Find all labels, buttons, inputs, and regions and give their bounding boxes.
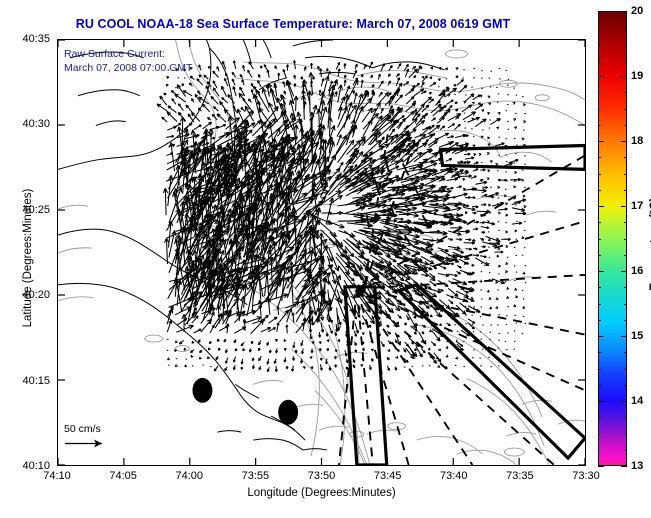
current-vector	[327, 348, 329, 351]
colorbar-minor-tick	[598, 352, 601, 353]
current-vector	[362, 332, 364, 335]
current-vector	[261, 66, 263, 69]
vector-scale-key: 50 cm/s	[64, 423, 110, 453]
current-vector	[199, 339, 201, 342]
current-vector	[338, 231, 355, 237]
current-vector	[297, 112, 304, 139]
current-vector	[336, 62, 339, 69]
current-vector	[495, 163, 497, 165]
current-vector	[513, 304, 516, 306]
current-vector	[164, 93, 167, 95]
current-vector	[484, 222, 495, 225]
current-vector	[512, 208, 525, 212]
colorbar-minor-tick	[598, 255, 601, 256]
current-vector	[431, 118, 435, 121]
current-vector	[372, 315, 374, 319]
current-vector	[284, 339, 286, 342]
current-vector	[209, 341, 211, 343]
current-vector	[438, 79, 441, 81]
current-vector	[199, 357, 201, 359]
current-vector	[523, 121, 525, 123]
current-vector	[456, 68, 459, 70]
current-vector	[259, 340, 261, 345]
current-vector	[294, 60, 296, 69]
current-vector	[335, 92, 337, 97]
current-vector	[242, 80, 244, 86]
scale-key-label: 50 cm/s	[64, 423, 101, 435]
current-vector	[175, 123, 181, 127]
current-vector	[194, 125, 201, 130]
current-vector	[233, 61, 235, 69]
current-vector	[505, 203, 508, 205]
current-vector	[232, 72, 236, 77]
current-vector	[232, 79, 235, 85]
current-vector	[446, 100, 453, 104]
current-vector	[521, 179, 523, 181]
current-vector	[166, 84, 168, 87]
current-vector	[487, 170, 490, 172]
current-vector	[431, 324, 433, 326]
current-vector	[369, 365, 371, 370]
colorbar-minor-tick	[624, 239, 627, 240]
current-vector	[347, 223, 373, 228]
current-vector	[480, 238, 484, 240]
current-vector	[460, 270, 473, 275]
current-vector	[465, 248, 471, 250]
colorbar-tick-mark	[598, 271, 604, 272]
current-vector	[198, 91, 201, 95]
current-vector	[252, 365, 254, 369]
current-vector	[387, 331, 391, 334]
current-vector	[428, 348, 430, 350]
current-vector	[406, 103, 416, 112]
current-vector	[403, 348, 405, 352]
current-vector	[409, 69, 418, 78]
current-vector	[408, 345, 414, 356]
current-vector	[446, 355, 448, 357]
current-vector	[448, 288, 458, 296]
current-vector	[447, 136, 453, 138]
current-vector	[171, 91, 175, 94]
current-vector	[482, 186, 487, 188]
current-vector	[362, 348, 364, 351]
current-vector	[505, 271, 507, 273]
current-vector	[433, 107, 444, 116]
current-vector	[456, 271, 460, 274]
colorbar-minor-tick	[598, 239, 601, 240]
current-vector	[480, 169, 485, 171]
current-vector	[302, 349, 304, 354]
current-vector	[462, 105, 472, 112]
current-vector	[329, 325, 333, 334]
current-vector	[379, 92, 383, 96]
current-vector	[477, 210, 491, 213]
current-vector	[294, 83, 296, 87]
current-vector	[464, 145, 468, 147]
current-vector	[275, 366, 277, 372]
surface-current-quiver-field	[157, 60, 526, 372]
current-vector	[278, 73, 280, 79]
colorbar-tick-label: 15	[631, 330, 643, 342]
colorbar-minor-tick	[624, 44, 627, 45]
current-vector	[338, 179, 351, 190]
colorbar-minor-tick	[624, 417, 627, 418]
current-vector	[481, 204, 486, 206]
current-vector	[497, 186, 499, 188]
current-vector	[326, 68, 328, 71]
current-vector	[251, 89, 253, 94]
current-vector	[429, 248, 434, 250]
current-vector	[308, 91, 312, 113]
current-vector	[361, 80, 363, 88]
current-vector	[405, 69, 408, 77]
current-vector	[435, 214, 447, 217]
current-vector	[498, 265, 500, 267]
current-vector	[217, 66, 219, 71]
current-vector	[248, 99, 251, 103]
current-vector	[414, 89, 424, 96]
current-vector	[523, 195, 525, 197]
current-vector	[496, 127, 499, 129]
current-vector	[445, 68, 447, 70]
current-vector	[301, 340, 303, 346]
current-vector	[345, 86, 349, 96]
current-vector	[487, 178, 490, 180]
current-vector	[488, 204, 490, 206]
colorbar-minor-tick	[624, 92, 627, 93]
current-vector	[465, 157, 474, 159]
current-vector	[387, 166, 399, 171]
colorbar-minor-tick	[624, 304, 627, 305]
current-vector	[406, 96, 414, 104]
current-vector	[327, 339, 329, 341]
current-vector	[243, 348, 245, 351]
colorbar-tick-label: 19	[631, 70, 643, 82]
colorbar-minor-tick	[598, 60, 601, 61]
current-vector	[335, 364, 337, 367]
current-vector	[303, 366, 305, 368]
current-vector	[175, 340, 177, 342]
current-vector	[395, 339, 397, 343]
current-vector	[389, 65, 393, 70]
current-vector	[464, 153, 470, 155]
colorbar-minor-tick	[598, 174, 601, 175]
current-vector	[277, 323, 279, 332]
current-vector	[379, 81, 384, 88]
colorbar-tick-mark	[621, 141, 627, 142]
current-vector	[252, 358, 254, 361]
current-vector	[225, 73, 228, 79]
current-vector	[310, 356, 312, 359]
current-vector	[370, 75, 372, 78]
colorbar-tick-label: 18	[631, 135, 643, 147]
current-vector	[283, 81, 285, 87]
current-vector	[166, 135, 174, 137]
current-vector	[457, 265, 461, 268]
current-vector	[240, 74, 243, 78]
colorbar-minor-tick	[624, 190, 627, 191]
colorbar-minor-tick	[598, 222, 601, 223]
current-vector	[424, 163, 437, 168]
current-vector	[346, 367, 348, 370]
colorbar-minor-tick	[624, 27, 627, 28]
radar-station-marker	[278, 400, 298, 425]
current-vector	[523, 272, 526, 274]
current-vector	[372, 85, 374, 88]
current-vector	[199, 350, 202, 353]
current-vector	[167, 358, 169, 360]
current-vector	[346, 359, 348, 363]
x-axis-label: Longitude (Degrees:Minutes)	[57, 487, 586, 499]
current-vector	[465, 211, 467, 213]
colorbar-tick-mark	[598, 466, 604, 467]
current-vector	[498, 112, 500, 114]
current-vector	[414, 316, 416, 319]
current-vector	[354, 341, 356, 345]
current-vector	[455, 102, 458, 104]
colorbar-minor-tick	[624, 222, 627, 223]
current-vector	[496, 298, 498, 300]
current-vector	[344, 63, 346, 68]
current-vector	[466, 239, 472, 241]
current-vector	[388, 74, 390, 77]
current-vector	[241, 107, 245, 111]
current-vector	[283, 69, 286, 77]
current-vector	[354, 350, 356, 353]
current-vector	[235, 349, 237, 352]
current-vector	[355, 323, 358, 333]
current-vector	[522, 138, 525, 140]
current-vector	[191, 98, 193, 102]
current-vector	[430, 315, 432, 317]
colorbar-tick-mark	[621, 401, 627, 402]
current-vector	[387, 357, 389, 360]
current-vector	[457, 186, 462, 188]
current-vector	[473, 169, 478, 171]
current-vector	[241, 359, 243, 364]
current-vector	[450, 226, 462, 229]
current-vector	[488, 144, 490, 146]
current-vector	[422, 76, 424, 79]
current-vector	[162, 117, 167, 122]
current-vector	[338, 339, 340, 342]
colorbar-minor-tick	[624, 352, 627, 353]
colorbar-minor-tick	[598, 287, 601, 288]
current-vector	[473, 95, 481, 100]
current-vector	[371, 349, 373, 351]
current-vector	[439, 67, 441, 69]
current-vector	[269, 350, 271, 353]
current-vector	[321, 78, 324, 86]
current-vector	[292, 366, 294, 372]
current-vector	[387, 366, 389, 371]
x-tick-label: 73:55	[242, 470, 270, 482]
current-vector	[184, 69, 186, 71]
current-vector	[304, 67, 306, 71]
current-vector	[398, 315, 402, 319]
current-vector	[225, 367, 227, 371]
current-vector	[199, 65, 201, 71]
y-tick-label: 40:35	[6, 33, 50, 45]
current-vector	[249, 348, 251, 352]
current-vector	[438, 348, 440, 350]
x-tick-label: 73:30	[572, 470, 600, 482]
current-vector	[202, 143, 209, 146]
current-vector	[495, 306, 498, 308]
current-vector	[498, 212, 500, 214]
current-vector	[481, 227, 489, 229]
current-vector	[369, 331, 371, 335]
current-vector	[439, 323, 441, 325]
current-vector	[353, 90, 355, 94]
current-vector	[233, 365, 235, 370]
current-vector	[182, 84, 185, 86]
current-vector	[421, 349, 425, 353]
current-vector	[494, 251, 503, 253]
radar-sector-north	[441, 146, 585, 170]
current-vector	[471, 264, 474, 266]
current-vector	[512, 222, 522, 224]
current-vector	[222, 98, 228, 103]
current-vector	[490, 161, 493, 163]
current-vector	[217, 114, 226, 122]
current-vector	[487, 112, 489, 114]
colorbar-minor-tick	[624, 125, 627, 126]
current-vector	[286, 325, 288, 334]
colorbar-minor-tick	[624, 157, 627, 158]
current-vector	[368, 205, 381, 209]
current-vector	[401, 233, 420, 238]
current-vector	[488, 103, 491, 105]
current-vector	[515, 230, 517, 232]
colorbar-tick-mark	[621, 271, 627, 272]
current-vector	[456, 238, 462, 240]
current-vector	[163, 188, 167, 215]
right-arrow-icon	[64, 438, 110, 453]
current-vector	[388, 340, 392, 343]
current-vector	[267, 342, 269, 346]
current-vector	[258, 81, 262, 88]
current-vector	[267, 367, 269, 371]
temperature-colorbar[interactable]	[598, 11, 627, 466]
colorbar-tick-mark	[598, 206, 604, 207]
current-vector	[259, 366, 261, 370]
current-vector	[414, 332, 416, 334]
current-vector	[513, 102, 515, 104]
current-vector	[320, 68, 322, 77]
sst-figure: RU COOL NOAA-18 Sea Surface Temperature:…	[0, 0, 651, 518]
colorbar-minor-tick	[624, 369, 627, 370]
map-plot-area[interactable]: Raw Surface Current: March 07, 2008 07:0…	[57, 39, 586, 466]
current-vector	[300, 359, 302, 364]
current-vector	[514, 172, 516, 174]
current-vector	[446, 323, 450, 326]
current-vector	[353, 364, 355, 367]
colorbar-minor-tick	[624, 320, 627, 321]
colorbar-minor-tick	[598, 320, 601, 321]
current-vector	[522, 306, 524, 308]
current-vector	[523, 104, 526, 106]
map-canvas	[58, 40, 585, 465]
current-vector	[353, 70, 356, 78]
current-vector	[241, 342, 244, 346]
colorbar-tick-label: 16	[631, 265, 643, 277]
current-vector	[488, 239, 490, 241]
current-vector	[311, 366, 313, 369]
current-vector	[445, 88, 456, 97]
current-vector	[190, 350, 194, 353]
current-vector	[241, 367, 243, 370]
current-vector	[459, 85, 467, 93]
current-vector	[465, 197, 471, 199]
current-vector	[234, 327, 246, 333]
current-vector	[191, 355, 193, 357]
colorbar-minor-tick	[598, 190, 601, 191]
current-vector	[362, 358, 364, 360]
colorbar-tick-label: 17	[631, 200, 643, 212]
current-vector	[429, 77, 431, 79]
current-vector	[330, 92, 335, 120]
current-vector	[473, 228, 478, 230]
current-vector	[515, 212, 526, 215]
colorbar-minor-tick	[598, 109, 601, 110]
current-vector	[186, 105, 193, 113]
current-vector	[481, 231, 485, 233]
current-vector	[234, 339, 236, 343]
colorbar-minor-tick	[598, 369, 601, 370]
current-vector	[476, 181, 488, 184]
current-vector	[286, 64, 288, 70]
current-vector	[293, 342, 295, 348]
current-vector	[459, 259, 469, 264]
current-vector	[522, 237, 524, 239]
current-vector	[326, 198, 334, 225]
current-vector	[209, 66, 211, 69]
current-vector	[496, 255, 498, 257]
current-vector	[243, 65, 245, 71]
colorbar-minor-tick	[598, 157, 601, 158]
current-vector	[463, 102, 466, 104]
x-tick-label: 73:35	[506, 470, 534, 482]
current-vector	[487, 153, 489, 155]
current-vector	[473, 248, 477, 250]
current-vector	[267, 359, 269, 365]
current-vector	[258, 348, 260, 351]
current-vector	[514, 127, 516, 129]
current-vector	[197, 79, 203, 85]
current-vector	[429, 330, 431, 332]
current-vector	[274, 359, 276, 364]
x-tick-label: 73:40	[440, 470, 468, 482]
current-vector	[396, 74, 399, 77]
current-vector	[437, 365, 439, 367]
figure-title: RU COOL NOAA-18 Sea Surface Temperature:…	[0, 17, 586, 31]
current-vector	[371, 358, 373, 361]
current-vector	[208, 348, 210, 350]
radar-sector-southeast	[399, 285, 585, 458]
current-vector	[446, 295, 454, 298]
current-vector	[284, 91, 286, 95]
current-vector	[214, 366, 218, 371]
current-vector	[481, 110, 483, 112]
current-vector	[168, 106, 176, 113]
current-vector	[381, 341, 384, 346]
current-vector	[344, 80, 346, 86]
colorbar-minor-tick	[598, 434, 601, 435]
current-vector	[312, 77, 314, 80]
x-tick-label: 73:45	[374, 470, 402, 482]
current-vector	[437, 194, 449, 197]
